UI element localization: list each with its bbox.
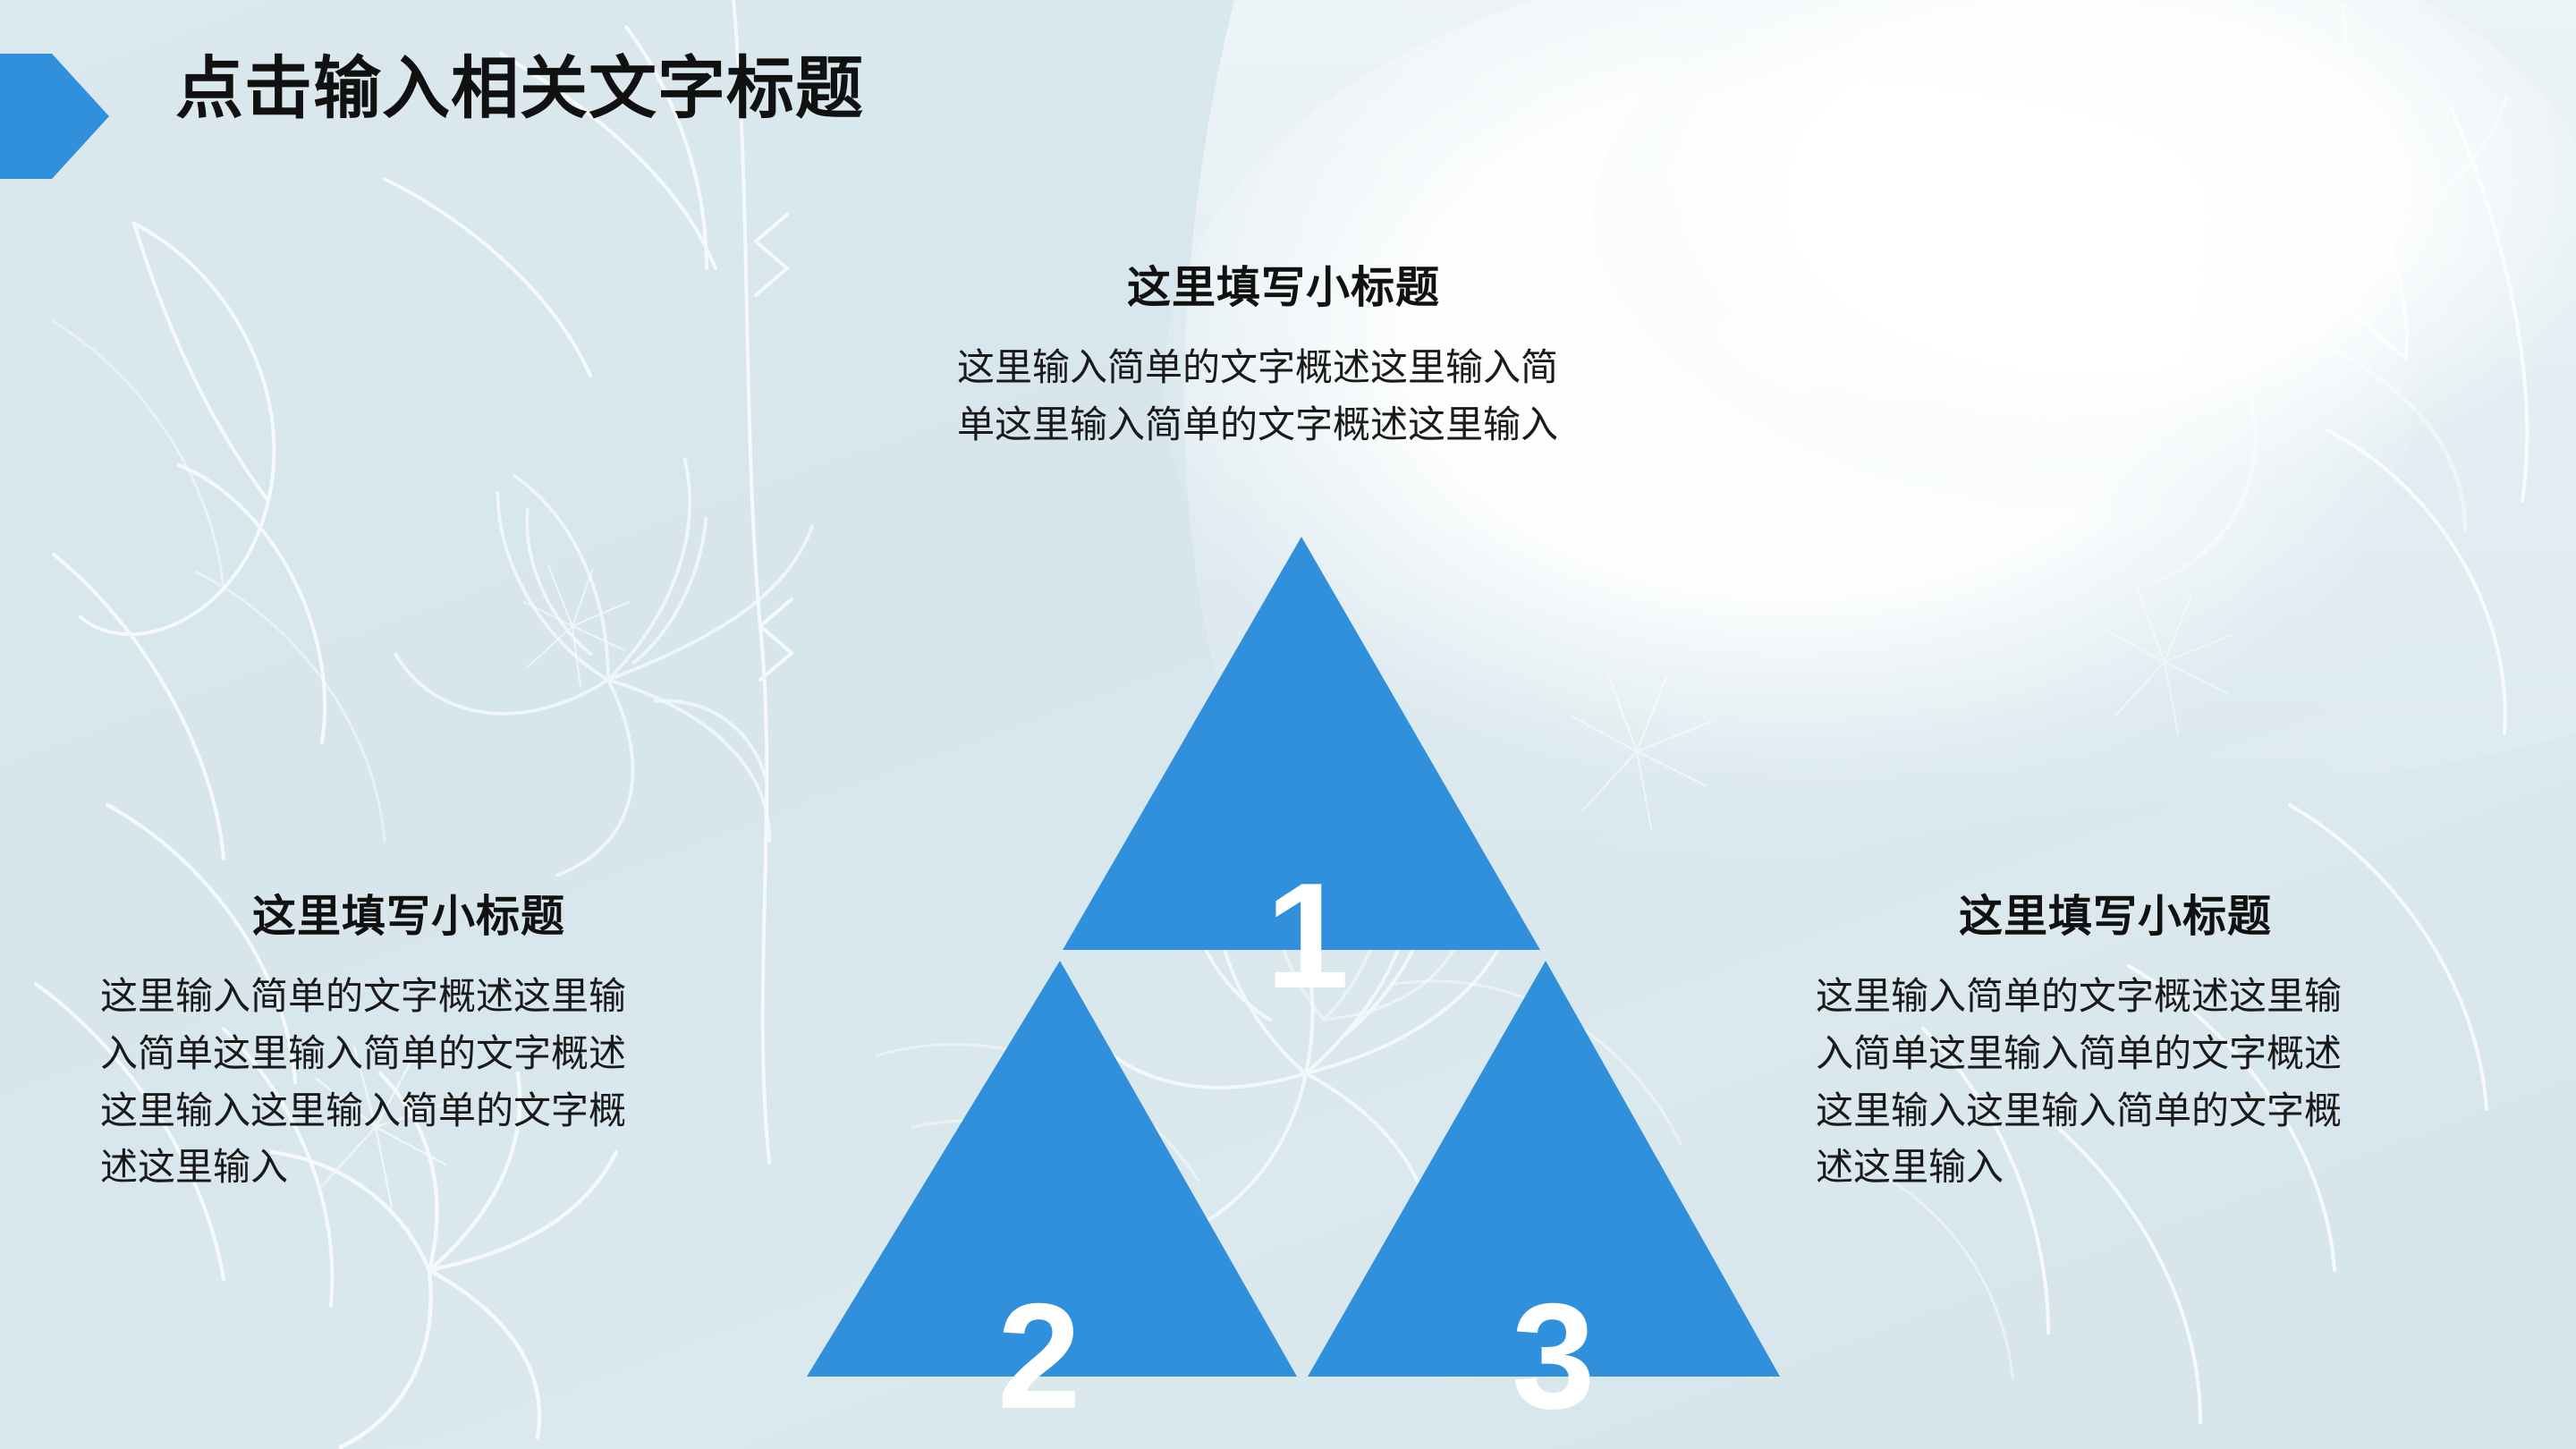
page-title: 点击输入相关文字标题 <box>175 50 864 128</box>
text-block-top: 这里填写小标题 这里输入简单的文字概述这里输入简 单这里输入简单的文字概述这里输… <box>957 252 1816 453</box>
text-line: 述这里输入 <box>1816 1139 2558 1196</box>
text-block-left: 这里填写小标题 这里输入简单的文字概述这里输 入简单这里输入简单的文字概述 这里… <box>100 881 843 1196</box>
text-line: 这里输入简单的文字概述这里输 <box>1816 968 2558 1025</box>
pyramid-number-1: 1 <box>1266 860 1349 1011</box>
text-block-right-body: 这里输入简单的文字概述这里输 入简单这里输入简单的文字概述 这里输入这里输入简单… <box>1816 968 2558 1196</box>
slide-canvas: 点击输入相关文字标题 1 2 3 这里填写小标题 这里输入简单的文字概述这里输入… <box>0 0 2576 1449</box>
text-block-right: 这里填写小标题 这里输入简单的文字概述这里输 入简单这里输入简单的文字概述 这里… <box>1816 881 2558 1196</box>
text-block-left-title: 这里填写小标题 <box>252 881 843 945</box>
text-block-left-body: 这里输入简单的文字概述这里输 入简单这里输入简单的文字概述 这里输入这里输入简单… <box>100 968 843 1196</box>
text-block-top-body: 这里输入简单的文字概述这里输入简 单这里输入简单的文字概述这里输入 <box>957 339 1816 453</box>
pyramid-number-2: 2 <box>997 1281 1080 1431</box>
text-line: 入简单这里输入简单的文字概述 <box>1816 1025 2558 1082</box>
pyramid-number-3: 3 <box>1512 1281 1595 1431</box>
text-block-right-title: 这里填写小标题 <box>1959 881 2558 945</box>
text-line: 这里输入简单的文字概述这里输入简 <box>957 339 1816 396</box>
text-block-top-title: 这里填写小标题 <box>1127 252 1816 316</box>
title-chevron-icon <box>0 54 109 179</box>
text-line: 入简单这里输入简单的文字概述 <box>100 1025 843 1082</box>
text-line: 这里输入这里输入简单的文字概 <box>100 1082 843 1140</box>
text-line: 这里输入简单的文字概述这里输 <box>100 968 843 1025</box>
pyramid-diagram: 1 2 3 <box>796 530 1789 1384</box>
text-line: 这里输入这里输入简单的文字概 <box>1816 1082 2558 1140</box>
text-line: 单这里输入简单的文字概述这里输入 <box>957 396 1816 453</box>
text-line: 述这里输入 <box>100 1139 843 1196</box>
